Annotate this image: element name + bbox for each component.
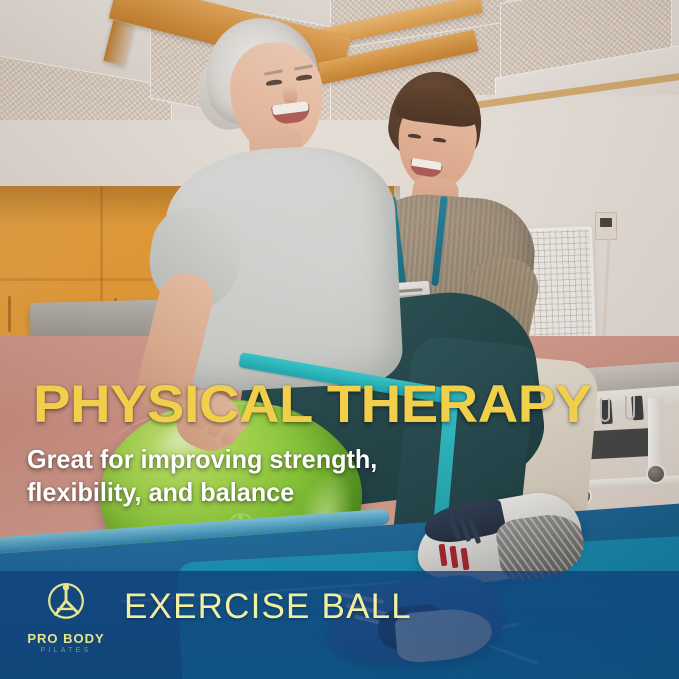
page-title: PHYSICAL THERAPY bbox=[33, 378, 592, 431]
treatment-table-leg bbox=[648, 398, 663, 468]
bottom-banner: PRO BODY PILATES EXERCISE BALL bbox=[0, 571, 679, 679]
product-poster: PRO BODY PILATES PHYSICAL THERAPY bbox=[0, 0, 679, 679]
brand-logo: PRO BODY PILATES bbox=[18, 580, 114, 654]
wall-outlet bbox=[595, 212, 617, 240]
subtitle: Great for improving strength, flexibilit… bbox=[27, 443, 377, 510]
subtitle-line-2: flexibility, and balance bbox=[27, 476, 377, 509]
table-hook bbox=[600, 398, 610, 422]
brand-tagline: PILATES bbox=[18, 647, 114, 654]
table-hook bbox=[625, 396, 635, 420]
probody-pilates-figure-icon bbox=[18, 580, 114, 630]
subtitle-line-1: Great for improving strength, bbox=[27, 443, 377, 476]
cabinet-handle bbox=[8, 296, 11, 332]
table-caster bbox=[646, 464, 666, 484]
product-name: EXERCISE BALL bbox=[124, 587, 412, 627]
brand-name: PRO BODY bbox=[18, 631, 114, 646]
